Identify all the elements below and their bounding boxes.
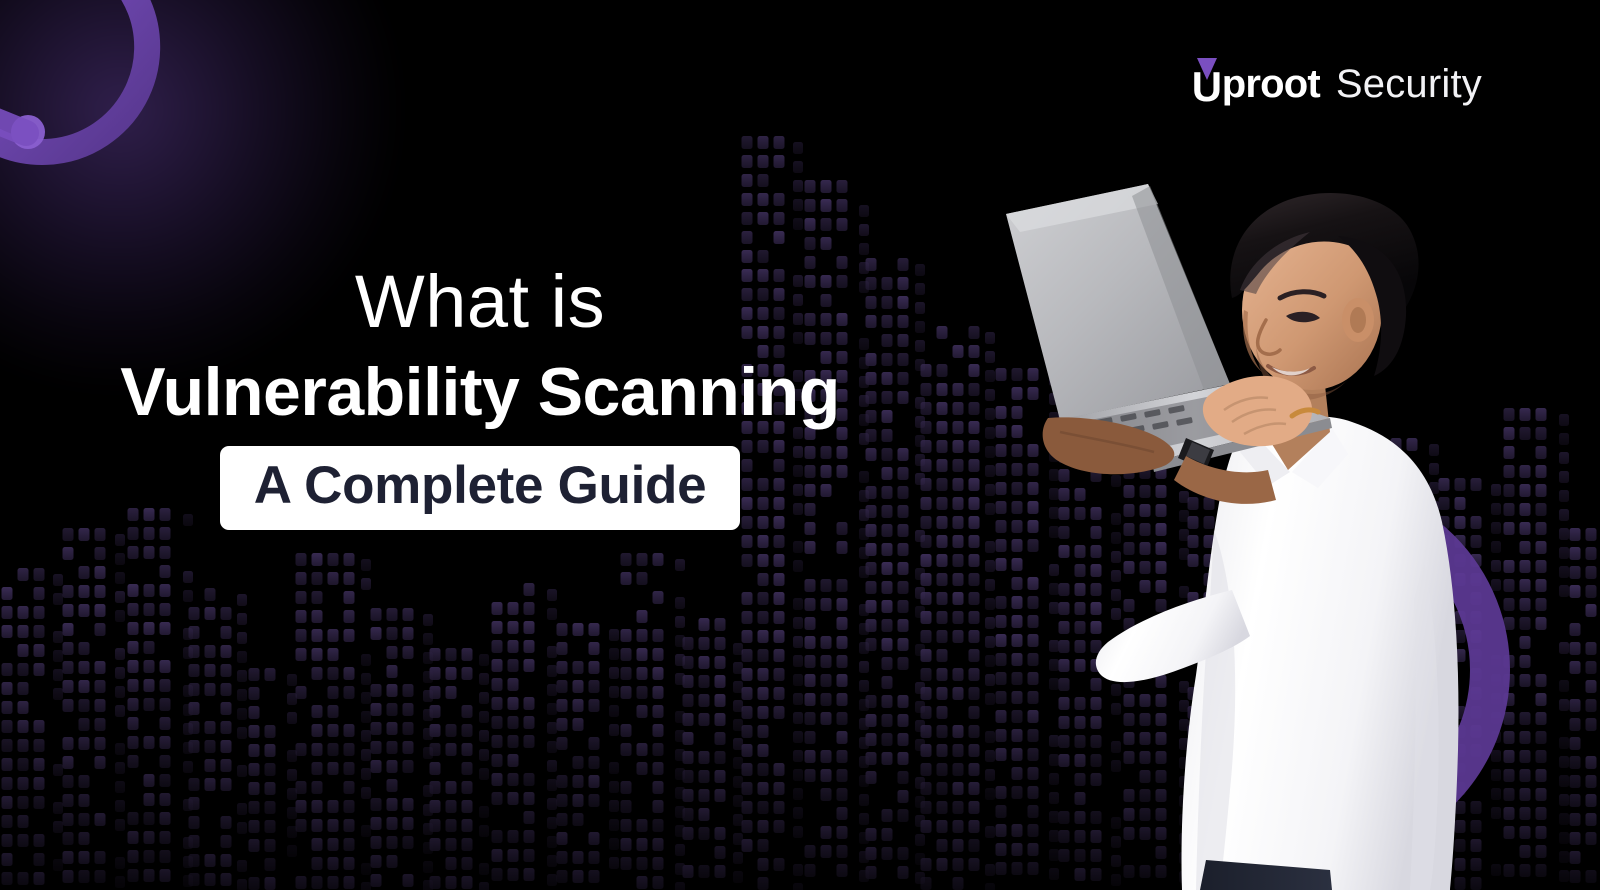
purple-arc-decoration [1340,490,1600,820]
hero-banner: U proot Security What is Vulnerability S… [0,0,1600,890]
headline-line-1: What is [0,258,960,346]
headline-line-2: Vulnerability Scanning [0,346,960,438]
person-with-laptop-photo [1000,170,1600,890]
brand-logo[interactable]: U proot Security [1191,58,1482,110]
logo-brand-bold: proot [1222,62,1320,106]
logo-mark: U [1191,59,1225,109]
logo-brand-light: Security [1336,62,1482,106]
purple-ring-icon [0,0,168,172]
headline-badge-row: A Complete Guide [0,446,960,530]
headline-badge: A Complete Guide [220,446,741,530]
headline-block: What is Vulnerability Scanning A Complet… [0,258,960,530]
logo-u-letter: U [1192,65,1222,109]
